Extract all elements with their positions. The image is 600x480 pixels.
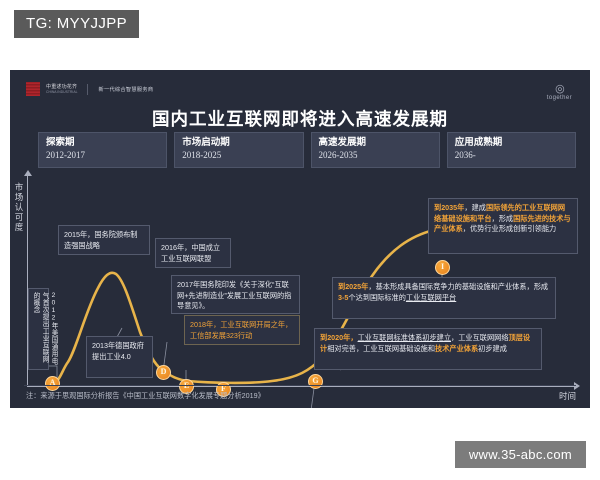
telegram-watermark: TG: MYYJJPP [14, 10, 139, 38]
node-marker-g[interactable]: G [308, 374, 323, 389]
callout-2015-text: 2015年，国务院颁布制造强国战略 [64, 230, 144, 251]
callout-2025-text: 到2025年，基本形成具备国际竞争力的基础设施和产业体系，形成3-5个达到国际标… [338, 282, 550, 303]
callout-2035: 到2035年，建成国际领先的工业互联网网络基础设施和平台，形成国际先进的技术与产… [428, 198, 578, 254]
callout-2012: 2012年美国通用电气首次提出工业互联网的概念 [28, 288, 49, 370]
callout-2035-seg-a: 到2035年 [434, 203, 464, 212]
callout-2020-seg-f: 技术产业体系 [435, 344, 478, 353]
callout-2016-text: 2016年，中国成立工业互联网联盟 [161, 243, 225, 264]
callout-2018: 2018年，工业互联网开局之年，工信部发展323行动 [184, 315, 300, 345]
callout-2015: 2015年，国务院颁布制造强国战略 [58, 225, 150, 255]
callout-2025-seg-a: 到2025年 [338, 282, 368, 291]
callout-2025-seg-e: 工业互联网平台 [406, 293, 456, 302]
callout-2020-text: 到2020年，工业互联网标准体系初步建立，工业互联网网络顶层设计相对完善，工业互… [320, 333, 536, 354]
infographic-slide: 中重述功花齐 CHINA INDUSTRIAL 新一代综合智慧服务商 ◎ tog… [10, 70, 590, 408]
callout-2035-text: 到2035年，建成国际领先的工业互联网网络基础设施和平台，形成国际先进的技术与产… [434, 203, 572, 235]
node-marker-i[interactable]: I [435, 260, 450, 275]
callout-2020-seg-a: 到2020年， [320, 333, 358, 342]
callout-2035-seg-d: ，形成 [492, 214, 514, 223]
callout-2020-seg-b: 工业互联网标准体系初步建立 [358, 333, 451, 342]
callout-2035-seg-b: ，建成 [464, 203, 486, 212]
callout-2020-seg-g: 初步建成 [478, 344, 507, 353]
callout-2025-seg-c: 3-5 [338, 293, 348, 302]
callout-2012-text: 2012年美国通用电气首次提出工业互联网的概念 [31, 292, 58, 366]
callout-2016: 2016年，中国成立工业互联网联盟 [155, 238, 231, 268]
callout-2018-text: 2018年，工业互联网开局之年，工信部发展323行动 [190, 320, 294, 341]
node-marker-d[interactable]: D [156, 365, 171, 380]
footer-divider [24, 385, 576, 386]
callout-2020-seg-c: ，工业互联网网络 [451, 333, 509, 342]
callout-2035-seg-f: ，优势行业形成创新引领能力 [463, 224, 556, 233]
callout-2025-seg-b: ，基本形成具备国际竞争力的基础设施和产业体系，形成 [368, 282, 548, 291]
node-marker-a[interactable]: A [45, 376, 60, 391]
callout-2025-seg-d: 个达到国际标准的 [348, 293, 406, 302]
callout-2020-seg-e: 相对完善，工业互联网基础设施和 [327, 344, 435, 353]
callout-2013-text: 2013年德国政府提出工业4.0 [92, 341, 147, 362]
callout-2017-text: 2017年国务院印发《关于深化“互联网+先进制造业”发展工业互联网的指导意见》。 [177, 280, 294, 312]
callout-2017: 2017年国务院印发《关于深化“互联网+先进制造业”发展工业互联网的指导意见》。 [171, 275, 300, 314]
url-watermark: www.35-abc.com [455, 441, 586, 468]
callout-2025: 到2025年，基本形成具备国际竞争力的基础设施和产业体系，形成3-5个达到国际标… [332, 277, 556, 319]
footnote: 注：来源于思观国际分析报告《中国工业互联网数字化发展专题分析2019》 [26, 391, 265, 401]
callout-2013: 2013年德国政府提出工业4.0 [86, 336, 153, 378]
callout-2020: 到2020年，工业互联网标准体系初步建立，工业互联网网络顶层设计相对完善，工业互… [314, 328, 542, 370]
